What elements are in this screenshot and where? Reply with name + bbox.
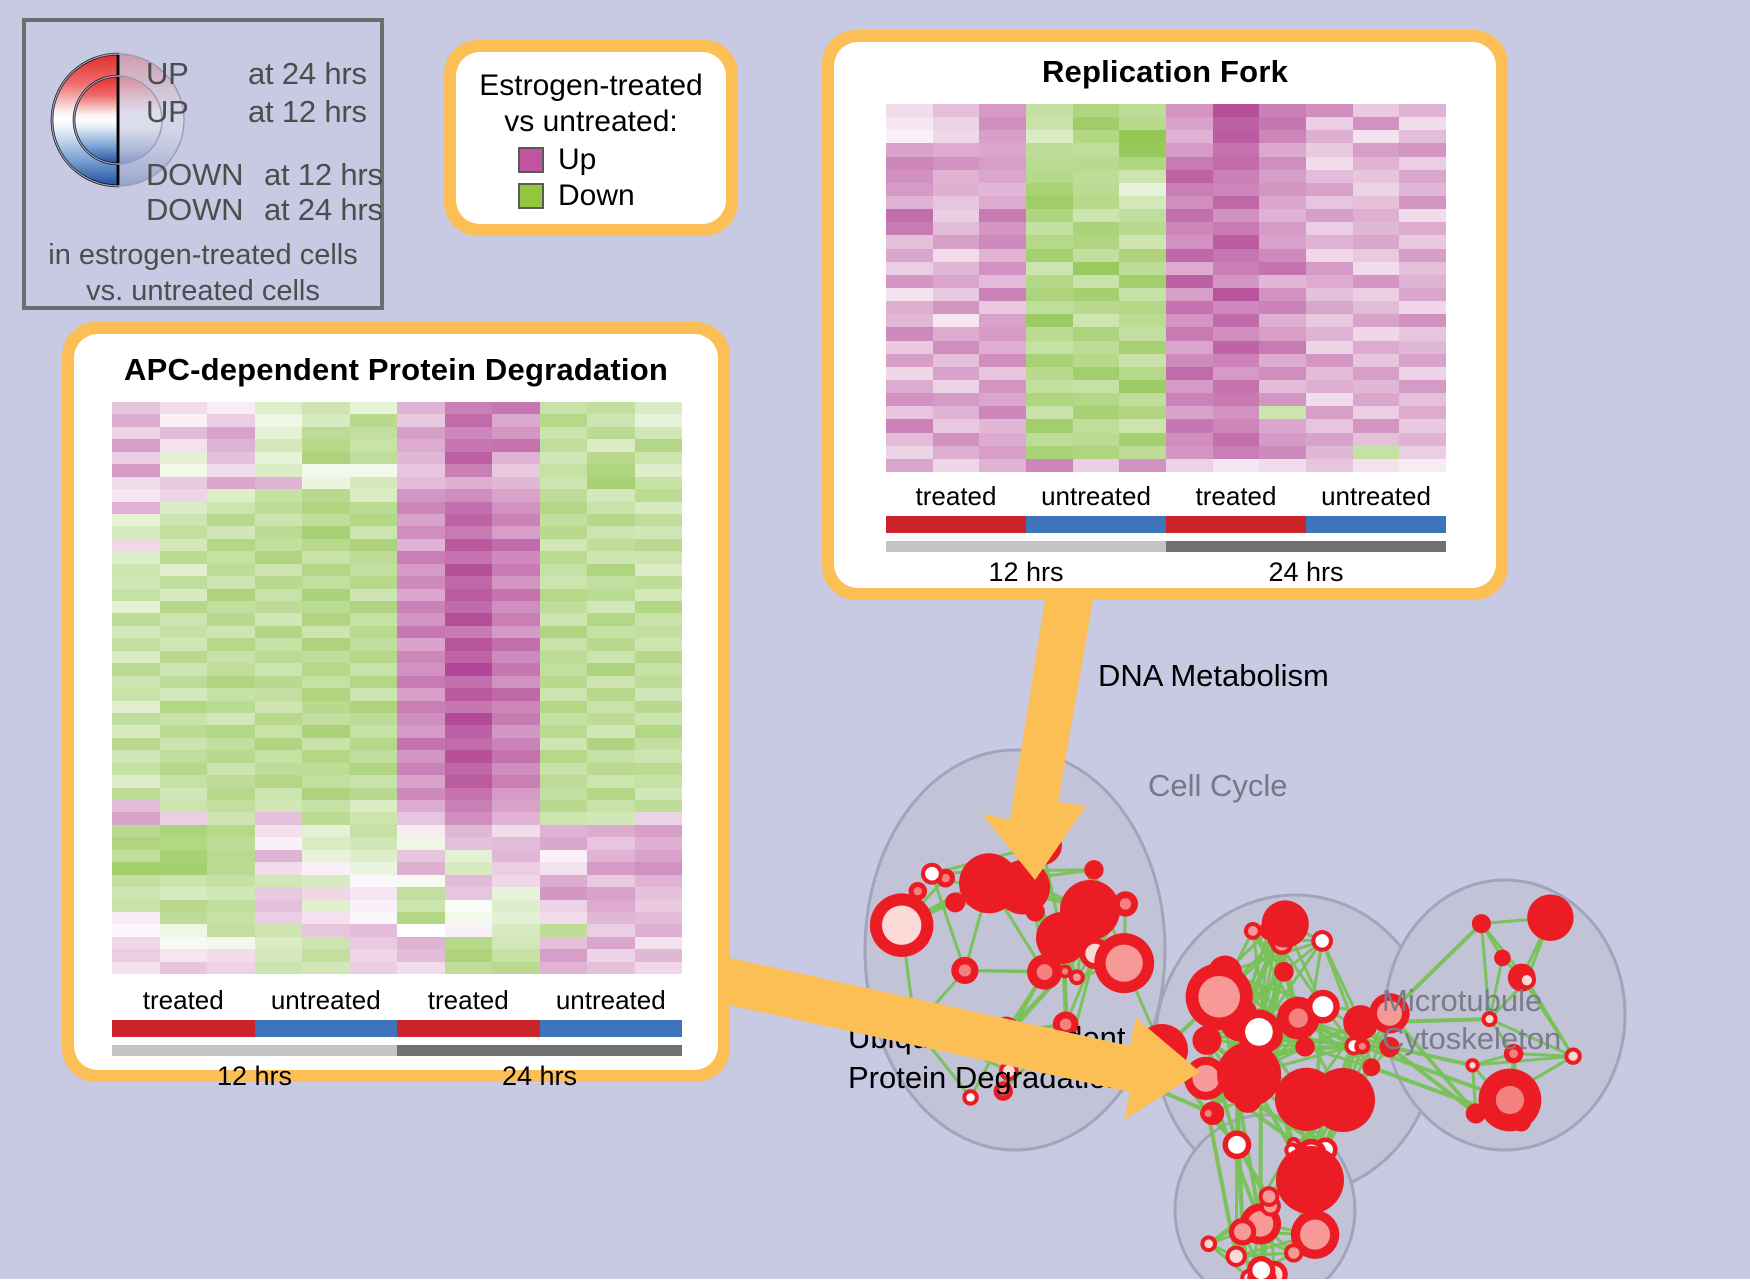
- heatmap-cell: [1166, 249, 1213, 262]
- heatmap-cell: [587, 701, 635, 713]
- heatmap-column: [1259, 104, 1306, 472]
- heatmap-cell: [1166, 288, 1213, 301]
- heatmap-column: [1306, 104, 1353, 472]
- heatmap-cell: [255, 937, 303, 949]
- heatmap-cell: [540, 526, 588, 538]
- heatmap-cell: [302, 900, 350, 912]
- heatmap-cell: [350, 763, 398, 775]
- heatmap-cell: [1213, 275, 1260, 288]
- heatmap-cell: [540, 414, 588, 426]
- heatmap-cell: [1306, 249, 1353, 262]
- heatmap-cell: [255, 738, 303, 750]
- network-node-core: [1496, 1086, 1524, 1114]
- heatmap-cell: [492, 477, 540, 489]
- heatmap-cell: [350, 651, 398, 663]
- replication-fork-panel: Replication Fork treateduntreatedtreated…: [822, 30, 1508, 600]
- heatmap-cell: [160, 676, 208, 688]
- heatmap-cell: [445, 452, 493, 464]
- heatmap-cell: [1259, 170, 1306, 183]
- heatmap-cell: [207, 589, 255, 601]
- heatmap-cell: [160, 763, 208, 775]
- heatmap-cell: [255, 626, 303, 638]
- heatmap-cell: [445, 750, 493, 762]
- heatmap-cell: [1353, 209, 1400, 222]
- heatmap-cell: [207, 775, 255, 787]
- heatmap-cell: [1353, 288, 1400, 301]
- heatmap-cell: [1399, 459, 1446, 472]
- figure-canvas: UP at 24 hrs UP at 12 hrs DOWN at 12 hrs…: [0, 0, 1750, 1279]
- heatmap-cell: [1213, 433, 1260, 446]
- heatmap-cell: [1073, 459, 1120, 472]
- heatmap-cell: [635, 526, 683, 538]
- heatmap-cell: [1399, 354, 1446, 367]
- heatmap-cell: [160, 924, 208, 936]
- heatmap-cell: [397, 613, 445, 625]
- heatmap-cell: [1259, 380, 1306, 393]
- heatmap-cell: [350, 837, 398, 849]
- heatmap-cell: [587, 626, 635, 638]
- heatmap-cell: [1073, 262, 1120, 275]
- heatmap-cell: [1213, 235, 1260, 248]
- heatmap-cell: [350, 738, 398, 750]
- heatmap-cell: [1399, 275, 1446, 288]
- heatmap-cell: [397, 414, 445, 426]
- heatmap-cell: [207, 949, 255, 961]
- heatmap-cell: [350, 464, 398, 476]
- heatmap-cell: [1073, 183, 1120, 196]
- heatmap-cell: [397, 539, 445, 551]
- heatmap-cell: [445, 551, 493, 563]
- heatmap-cell: [540, 701, 588, 713]
- heatmap-cell: [302, 651, 350, 663]
- heatmap-cell: [397, 788, 445, 800]
- heatmap-cell: [1213, 143, 1260, 156]
- timepoint-bar-segment: [397, 1045, 682, 1056]
- heatmap-cell: [1259, 314, 1306, 327]
- heatmap-cell: [1306, 117, 1353, 130]
- heatmap-cell: [1026, 446, 1073, 459]
- heatmap-cell: [1306, 406, 1353, 419]
- heatmap-cell: [1306, 183, 1353, 196]
- heatmap-cell: [1259, 249, 1306, 262]
- treatment-bar-segment: [540, 1020, 683, 1037]
- heatmap-column: [302, 402, 350, 974]
- heatmap-cell: [540, 502, 588, 514]
- network-node[interactable]: [1295, 1037, 1315, 1057]
- heatmap-cell: [302, 464, 350, 476]
- heatmap-cell: [397, 900, 445, 912]
- heatmap-cell: [933, 327, 980, 340]
- heatmap-cell: [1353, 143, 1400, 156]
- heatmap-cell: [397, 875, 445, 887]
- heatmap-cell: [302, 439, 350, 451]
- heatmap-cell: [112, 464, 160, 476]
- heatmap-cell: [397, 439, 445, 451]
- heatmap-cell: [886, 196, 933, 209]
- heatmap-cell: [397, 837, 445, 849]
- heatmap-cell: [112, 551, 160, 563]
- heatmap-cell: [445, 427, 493, 439]
- heatmap-cell: [160, 514, 208, 526]
- heatmap-cell: [635, 601, 683, 613]
- replication-fork-timepoint-bar: [886, 541, 1446, 552]
- heatmap-cell: [160, 788, 208, 800]
- heatmap-cell: [1306, 380, 1353, 393]
- network-node[interactable]: [1274, 962, 1294, 982]
- heatmap-cell: [1073, 354, 1120, 367]
- heatmap-cell: [302, 949, 350, 961]
- heatmap-cell: [350, 812, 398, 824]
- network-node[interactable]: [1084, 860, 1103, 879]
- network-node[interactable]: [1362, 1058, 1380, 1076]
- heatmap-cell: [1353, 117, 1400, 130]
- heatmap-cell: [1119, 196, 1166, 209]
- heatmap-cell: [587, 464, 635, 476]
- heatmap-cell: [207, 701, 255, 713]
- heatmap-cell: [350, 825, 398, 837]
- network-node[interactable]: [959, 853, 1019, 913]
- heatmap-cell: [1399, 341, 1446, 354]
- network-node[interactable]: [1466, 1103, 1486, 1123]
- heatmap-cell: [112, 937, 160, 949]
- heatmap-cell: [350, 452, 398, 464]
- heatmap-cell: [492, 887, 540, 899]
- heatmap-cell: [112, 713, 160, 725]
- heatmap-cell: [302, 887, 350, 899]
- heatmap-cell: [255, 638, 303, 650]
- heatmap-cell: [587, 663, 635, 675]
- heatmap-cell: [979, 341, 1026, 354]
- treatment-bar-segment: [886, 516, 1026, 533]
- heatmap-cell: [255, 452, 303, 464]
- heatmap-cell: [112, 962, 160, 974]
- heatmap-cell: [1166, 143, 1213, 156]
- heatmap-cell: [1399, 235, 1446, 248]
- heatmap-cell: [397, 526, 445, 538]
- heatmap-cell: [1259, 433, 1306, 446]
- heatmap-cell: [160, 526, 208, 538]
- heatmap-cell: [350, 900, 398, 912]
- heatmap-cell: [1306, 354, 1353, 367]
- heatmap-cell: [1166, 157, 1213, 170]
- network-node[interactable]: [1494, 950, 1511, 967]
- network-node[interactable]: [1136, 1024, 1188, 1076]
- heatmap-cell: [207, 564, 255, 576]
- heatmap-cell: [160, 539, 208, 551]
- heatmap-cell: [933, 301, 980, 314]
- heatmap-cell: [302, 875, 350, 887]
- heatmap-cell: [1073, 235, 1120, 248]
- heatmap-cell: [979, 183, 1026, 196]
- heatmap-cell: [302, 589, 350, 601]
- heatmap-cell: [445, 489, 493, 501]
- heatmap-cell: [350, 638, 398, 650]
- sample-group-label: treated: [1166, 480, 1306, 512]
- heatmap-cell: [886, 170, 933, 183]
- heatmap-cell: [255, 489, 303, 501]
- heatmap-cell: [207, 514, 255, 526]
- heatmap-cell: [1353, 301, 1400, 314]
- heatmap-column: [1119, 104, 1166, 472]
- heatmap-cell: [160, 825, 208, 837]
- heatmap-cell: [1166, 446, 1213, 459]
- heatmap-cell: [540, 452, 588, 464]
- heatmap-cell: [160, 564, 208, 576]
- heatmap-cell: [933, 196, 980, 209]
- heatmap-cell: [1259, 222, 1306, 235]
- heatmap-cell: [1213, 209, 1260, 222]
- heatmap-cell: [445, 701, 493, 713]
- heatmap-cell: [1259, 117, 1306, 130]
- heatmap-cell: [397, 564, 445, 576]
- heatmap-cell: [635, 502, 683, 514]
- heatmap-cell: [635, 725, 683, 737]
- heatmap-cell: [540, 676, 588, 688]
- cluster-label-cytoskeleton: Cytoskeleton: [1382, 1020, 1561, 1058]
- heatmap-cell: [492, 837, 540, 849]
- heatmap-cell: [1026, 117, 1073, 130]
- heatmap-cell: [635, 464, 683, 476]
- heatmap-cell: [886, 183, 933, 196]
- heatmap-cell: [979, 288, 1026, 301]
- heatmap-cell: [587, 887, 635, 899]
- heatmap-cell: [492, 962, 540, 974]
- network-node[interactable]: [1511, 1112, 1531, 1132]
- heatmap-cell: [112, 489, 160, 501]
- network-node[interactable]: [1276, 1146, 1344, 1214]
- heatmap-cell: [1306, 170, 1353, 183]
- heatmap-cell: [1073, 288, 1120, 301]
- heatmap-cell: [1026, 104, 1073, 117]
- network-node-core: [1315, 934, 1328, 947]
- heatmap-column: [445, 402, 493, 974]
- heatmap-cell: [492, 862, 540, 874]
- replication-fork-heatmap: [886, 104, 1446, 472]
- heatmap-cell: [255, 526, 303, 538]
- cluster-label-ubiquitin: Ubiquitin-dependent: [848, 1018, 1126, 1058]
- heatmap-cell: [587, 638, 635, 650]
- heatmap-cell: [1353, 183, 1400, 196]
- heatmap-cell: [1026, 235, 1073, 248]
- heatmap-cell: [492, 775, 540, 787]
- heatmap-cell: [1353, 104, 1400, 117]
- heatmap-cell: [207, 788, 255, 800]
- heatmap-cell: [445, 688, 493, 700]
- heatmap-cell: [635, 626, 683, 638]
- heatmap-cell: [302, 688, 350, 700]
- heatmap-cell: [492, 750, 540, 762]
- heatmap-cell: [445, 812, 493, 824]
- heatmap-cell: [255, 788, 303, 800]
- heatmap-cell: [587, 949, 635, 961]
- heatmap-cell: [492, 439, 540, 451]
- heatmap-cell: [492, 502, 540, 514]
- heatmap-cell: [445, 589, 493, 601]
- heatmap-cell: [635, 514, 683, 526]
- heatmap-cell: [933, 130, 980, 143]
- heatmap-cell: [587, 812, 635, 824]
- network-node[interactable]: [1036, 912, 1088, 964]
- network-node[interactable]: [1311, 1068, 1375, 1132]
- heatmap-cell: [207, 862, 255, 874]
- heatmap-cell: [1073, 433, 1120, 446]
- heatmap-cell: [350, 750, 398, 762]
- heatmap-cell: [302, 452, 350, 464]
- network-node-core: [1288, 1247, 1299, 1258]
- heatmap-cell: [397, 676, 445, 688]
- heatmap-cell: [1213, 130, 1260, 143]
- heatmap-cell: [112, 402, 160, 414]
- heatmap-cell: [160, 439, 208, 451]
- heatmap-cell: [302, 601, 350, 613]
- heatmap-cell: [350, 949, 398, 961]
- heatmap-cell: [1213, 196, 1260, 209]
- heatmap-column: [112, 402, 160, 974]
- heatmap-cell: [350, 427, 398, 439]
- heatmap-cell: [1073, 209, 1120, 222]
- heatmap-cell: [587, 452, 635, 464]
- heatmap-cell: [445, 477, 493, 489]
- heatmap-cell: [112, 452, 160, 464]
- heatmap-cell: [160, 949, 208, 961]
- heatmap-cell: [492, 663, 540, 675]
- heatmap-cell: [255, 949, 303, 961]
- heatmap-cell: [302, 564, 350, 576]
- heatmap-cell: [207, 825, 255, 837]
- heatmap-cell: [1119, 262, 1166, 275]
- heatmap-cell: [1213, 393, 1260, 406]
- heatmap-cell: [160, 775, 208, 787]
- heatmap-cell: [112, 526, 160, 538]
- network-node[interactable]: [1192, 1026, 1221, 1055]
- sample-group-label: treated: [397, 984, 540, 1016]
- heatmap-cell: [302, 750, 350, 762]
- network-node-core: [1359, 1043, 1366, 1050]
- heatmap-cell: [1213, 262, 1260, 275]
- heatmap-cell: [112, 601, 160, 613]
- heatmap-cell: [445, 651, 493, 663]
- heatmap-cell: [397, 514, 445, 526]
- heatmap-cell: [397, 576, 445, 588]
- heatmap-cell: [1259, 288, 1306, 301]
- heatmap-cell: [540, 589, 588, 601]
- heatmap-cell: [933, 367, 980, 380]
- heatmap-cell: [635, 887, 683, 899]
- heatmap-cell: [397, 626, 445, 638]
- heatmap-cell: [540, 924, 588, 936]
- heatmap-cell: [1166, 314, 1213, 327]
- heatmap-cell: [1073, 380, 1120, 393]
- heatmap-cell: [397, 862, 445, 874]
- heatmap-cell: [1353, 354, 1400, 367]
- heatmap-cell: [445, 949, 493, 961]
- heatmap-cell: [397, 924, 445, 936]
- heatmap-cell: [1259, 183, 1306, 196]
- heatmap-cell: [886, 209, 933, 222]
- network-node[interactable]: [1343, 1005, 1378, 1040]
- heatmap-cell: [540, 539, 588, 551]
- heatmap-cell: [1213, 288, 1260, 301]
- network-node[interactable]: [1527, 895, 1573, 941]
- heatmap-cell: [207, 713, 255, 725]
- heatmap-cell: [635, 713, 683, 725]
- heatmap-column: [635, 402, 683, 974]
- heatmap-cell: [445, 713, 493, 725]
- heatmap-cell: [1213, 117, 1260, 130]
- heatmap-cell: [207, 601, 255, 613]
- heatmap-cell: [397, 937, 445, 949]
- heatmap-cell: [1399, 419, 1446, 432]
- replication-fork-treatment-bar: [886, 516, 1446, 533]
- heatmap-cell: [207, 837, 255, 849]
- heatmap-cell: [112, 924, 160, 936]
- heatmap-cell: [1119, 406, 1166, 419]
- heatmap-cell: [445, 825, 493, 837]
- key-row-0-name: UP: [146, 56, 189, 92]
- key-row-1-name: UP: [146, 94, 189, 130]
- heatmap-cell: [302, 526, 350, 538]
- heatmap-cell: [1399, 393, 1446, 406]
- heatmap-column: [207, 402, 255, 974]
- heatmap-cell: [207, 924, 255, 936]
- heatmap-cell: [160, 738, 208, 750]
- heatmap-cell: [540, 738, 588, 750]
- heatmap-cell: [112, 949, 160, 961]
- heatmap-cell: [886, 288, 933, 301]
- heatmap-cell: [302, 924, 350, 936]
- legend-title-line1: Estrogen-treated: [456, 68, 726, 104]
- heatmap-cell: [1399, 183, 1446, 196]
- heatmap-cell: [587, 601, 635, 613]
- heatmap-cell: [255, 564, 303, 576]
- heatmap-cell: [1306, 157, 1353, 170]
- timepoint-label: 12 hrs: [886, 555, 1166, 589]
- heatmap-cell: [445, 414, 493, 426]
- heatmap-cell: [933, 117, 980, 130]
- heatmap-cell: [445, 539, 493, 551]
- heatmap-cell: [255, 688, 303, 700]
- heatmap-cell: [160, 464, 208, 476]
- heatmap-cell: [1073, 341, 1120, 354]
- heatmap-cell: [207, 414, 255, 426]
- heatmap-cell: [540, 638, 588, 650]
- heatmap-cell: [255, 837, 303, 849]
- heatmap-cell: [1353, 341, 1400, 354]
- heatmap-cell: [302, 788, 350, 800]
- network-node[interactable]: [1472, 914, 1491, 933]
- color-key-footer-line1: in estrogen-treated cells: [26, 237, 380, 273]
- heatmap-cell: [397, 663, 445, 675]
- heatmap-cell: [1213, 419, 1260, 432]
- heatmap-cell: [350, 489, 398, 501]
- heatmap-cell: [979, 262, 1026, 275]
- heatmap-cell: [1119, 222, 1166, 235]
- network-node[interactable]: [1262, 900, 1309, 947]
- heatmap-cell: [160, 626, 208, 638]
- heatmap-cell: [112, 514, 160, 526]
- heatmap-column: [492, 402, 540, 974]
- heatmap-cell: [1306, 446, 1353, 459]
- heatmap-cell: [1026, 249, 1073, 262]
- heatmap-cell: [979, 327, 1026, 340]
- sample-group-label: untreated: [1306, 480, 1446, 512]
- heatmap-cell: [160, 688, 208, 700]
- heatmap-cell: [540, 862, 588, 874]
- heatmap-cell: [587, 775, 635, 787]
- heatmap-cell: [635, 688, 683, 700]
- heatmap-cell: [397, 912, 445, 924]
- apc-degradation-title: APC-dependent Protein Degradation: [74, 334, 718, 388]
